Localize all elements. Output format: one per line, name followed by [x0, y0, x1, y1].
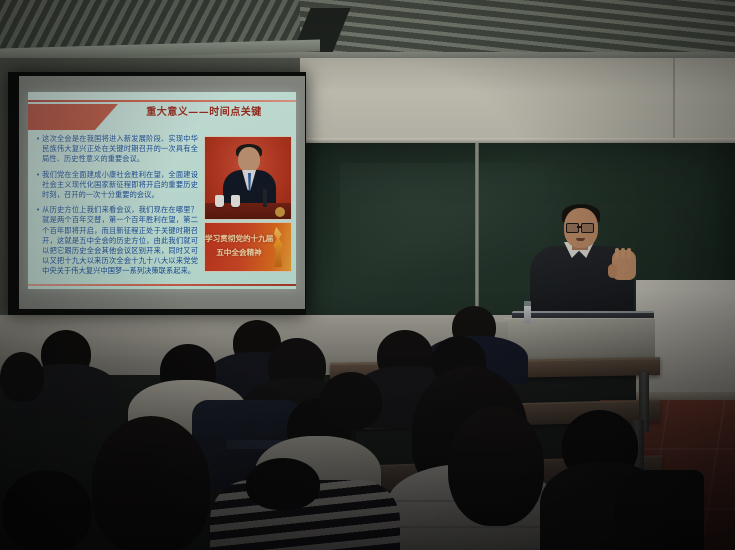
bullet-dot-icon: • — [36, 170, 40, 201]
slide-bottom-rule — [28, 284, 296, 286]
slide-body: • 这次全会是在我国将进入新发展阶段、实现中华民族伟大复兴正处在关键时期召开的一… — [36, 134, 198, 282]
photo-emblem-icon — [275, 207, 285, 217]
presenter — [520, 198, 650, 328]
slide-banner-line1: 学习贯彻党的十九届 — [205, 233, 273, 244]
water-bottle — [524, 305, 531, 323]
audience-member-head — [320, 372, 382, 430]
presentation-slide: 重大意义——时间点关键 • 这次全会是在我国将进入新发展阶段、实现中华民族伟大复… — [28, 92, 296, 289]
glasses-icon — [566, 223, 579, 233]
audience-member-head — [2, 470, 92, 550]
slide-banner: 学习贯彻党的十九届 五中全会精神 — [204, 222, 292, 272]
wall-seam — [673, 58, 675, 142]
audience-member-long-hair — [92, 416, 210, 550]
slide-red-wedge — [28, 104, 118, 130]
audience-member-body — [614, 470, 704, 550]
upper-back-wall — [300, 58, 735, 142]
photo-speaker-head — [238, 147, 260, 172]
slide-banner-line2: 五中全会精神 — [205, 247, 273, 258]
slide-title: 重大意义——时间点关键 — [118, 106, 290, 120]
photo-teacup — [215, 195, 224, 207]
presenter-finger — [615, 248, 619, 259]
audience-member-head — [0, 352, 44, 402]
slide-bullet: • 我们党在全面建成小康社会胜利在望，全面建设社会主义现代化国家新征程即将开启的… — [36, 170, 198, 201]
presenter-finger — [627, 248, 631, 259]
slide-top-rule — [28, 100, 296, 102]
water-bottle-cap — [524, 301, 531, 306]
audience-member-head — [246, 458, 320, 510]
slide-bullet: • 这次全会是在我国将进入新发展阶段、实现中华民族伟大复兴正处在关键时期召开的一… — [36, 134, 198, 165]
projection-screen-frame: 重大意义——时间点关键 • 这次全会是在我国将进入新发展阶段、实现中华民族伟大复… — [8, 72, 306, 315]
bullet-dot-icon: • — [36, 134, 40, 165]
slide-bullet-text: 从历史方位上我们来看会议，我们现在在哪里？就是两个百年交替，第一个百年胜利在望，… — [42, 205, 198, 276]
slide-bullet: • 从历史方位上我们来看会议，我们现在在哪里？就是两个百年交替，第一个百年胜利在… — [36, 205, 198, 276]
lecture-hall-photo: 重大意义——时间点关键 • 这次全会是在我国将进入新发展阶段、实现中华民族伟大复… — [0, 0, 735, 550]
presenter-thumb — [608, 264, 617, 278]
presenter-finger — [621, 248, 625, 259]
puffer-jacket-seam — [396, 526, 548, 528]
audience-member-long-hair — [448, 406, 544, 526]
glasses-bridge-icon — [577, 226, 582, 228]
glasses-icon — [581, 223, 594, 233]
slide-speaker-photo — [204, 136, 292, 220]
slide-bullet-text: 我们党在全面建成小康社会胜利在望，全面建设社会主义现代化国家新征程即将开启的重要… — [42, 170, 198, 201]
projection-screen-surface: 重大意义——时间点关键 • 这次全会是在我国将进入新发展阶段、实现中华民族伟大复… — [19, 76, 305, 309]
photo-microphone-icon — [263, 189, 267, 207]
slide-bullet-text: 这次全会是在我国将进入新发展阶段、实现中华民族伟大复兴正处在关键时期召开的一次具… — [42, 134, 198, 165]
bullet-dot-icon: • — [36, 205, 40, 276]
photo-teacup — [231, 195, 240, 207]
